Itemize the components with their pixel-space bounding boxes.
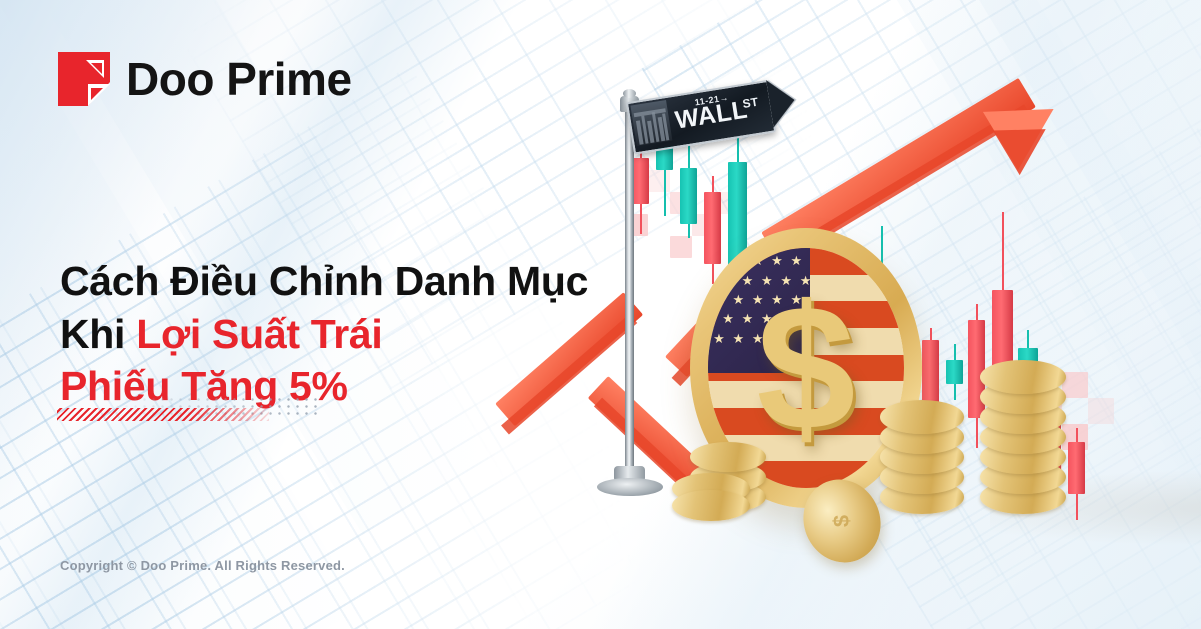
candlestick-wick-upper [712,176,714,192]
pixel-square [1088,398,1114,424]
candlestick-body [680,168,697,224]
headline-line-2-black: Khi [60,311,136,357]
doo-prime-logo-mark-icon [58,52,110,106]
coin-disc [672,490,750,521]
sign-street-name: WALL [673,98,749,134]
sign-street-suffix: ST [741,95,759,111]
pixel-square [648,170,670,192]
headline-line-2-red: Lợi Suất Trái [136,311,382,357]
candlestick-body [632,158,649,204]
copyright-text: Copyright © Doo Prime. All Rights Reserv… [60,558,345,573]
candlestick-wick-upper [1002,212,1004,290]
candlestick-wick-lower [640,204,642,234]
sign-pole [625,108,634,492]
brand-logo-text: Doo Prime [126,56,352,102]
sign-pole-base [597,478,663,496]
candlestick-wick-lower [1076,494,1078,520]
candlestick-wick-upper [976,304,978,320]
candlestick-wick-upper [954,344,956,360]
candlestick-wick-lower [976,418,978,448]
candlestick-wick-upper [930,328,932,340]
candlestick-body [1068,442,1085,494]
dollar-sign-icon: $ [757,279,856,457]
coin-disc [880,400,964,434]
promo-banner: Doo Prime Cách Điều Chỉnh Danh Mục Khi L… [0,0,1201,629]
candlestick-wick-lower [664,170,666,216]
candlestick-wick-lower [688,224,690,238]
candlestick-wick-upper [1027,330,1029,348]
candlestick-wick-lower [954,384,956,400]
brand-logo[interactable]: Doo Prime [58,52,352,106]
accent-hatch-stripe [57,408,269,421]
pixel-square [670,236,692,258]
candlestick-body [946,360,963,384]
candlestick-wick-upper [1076,428,1078,442]
sign-photo-inset [630,100,672,146]
accent-bar [57,396,319,424]
